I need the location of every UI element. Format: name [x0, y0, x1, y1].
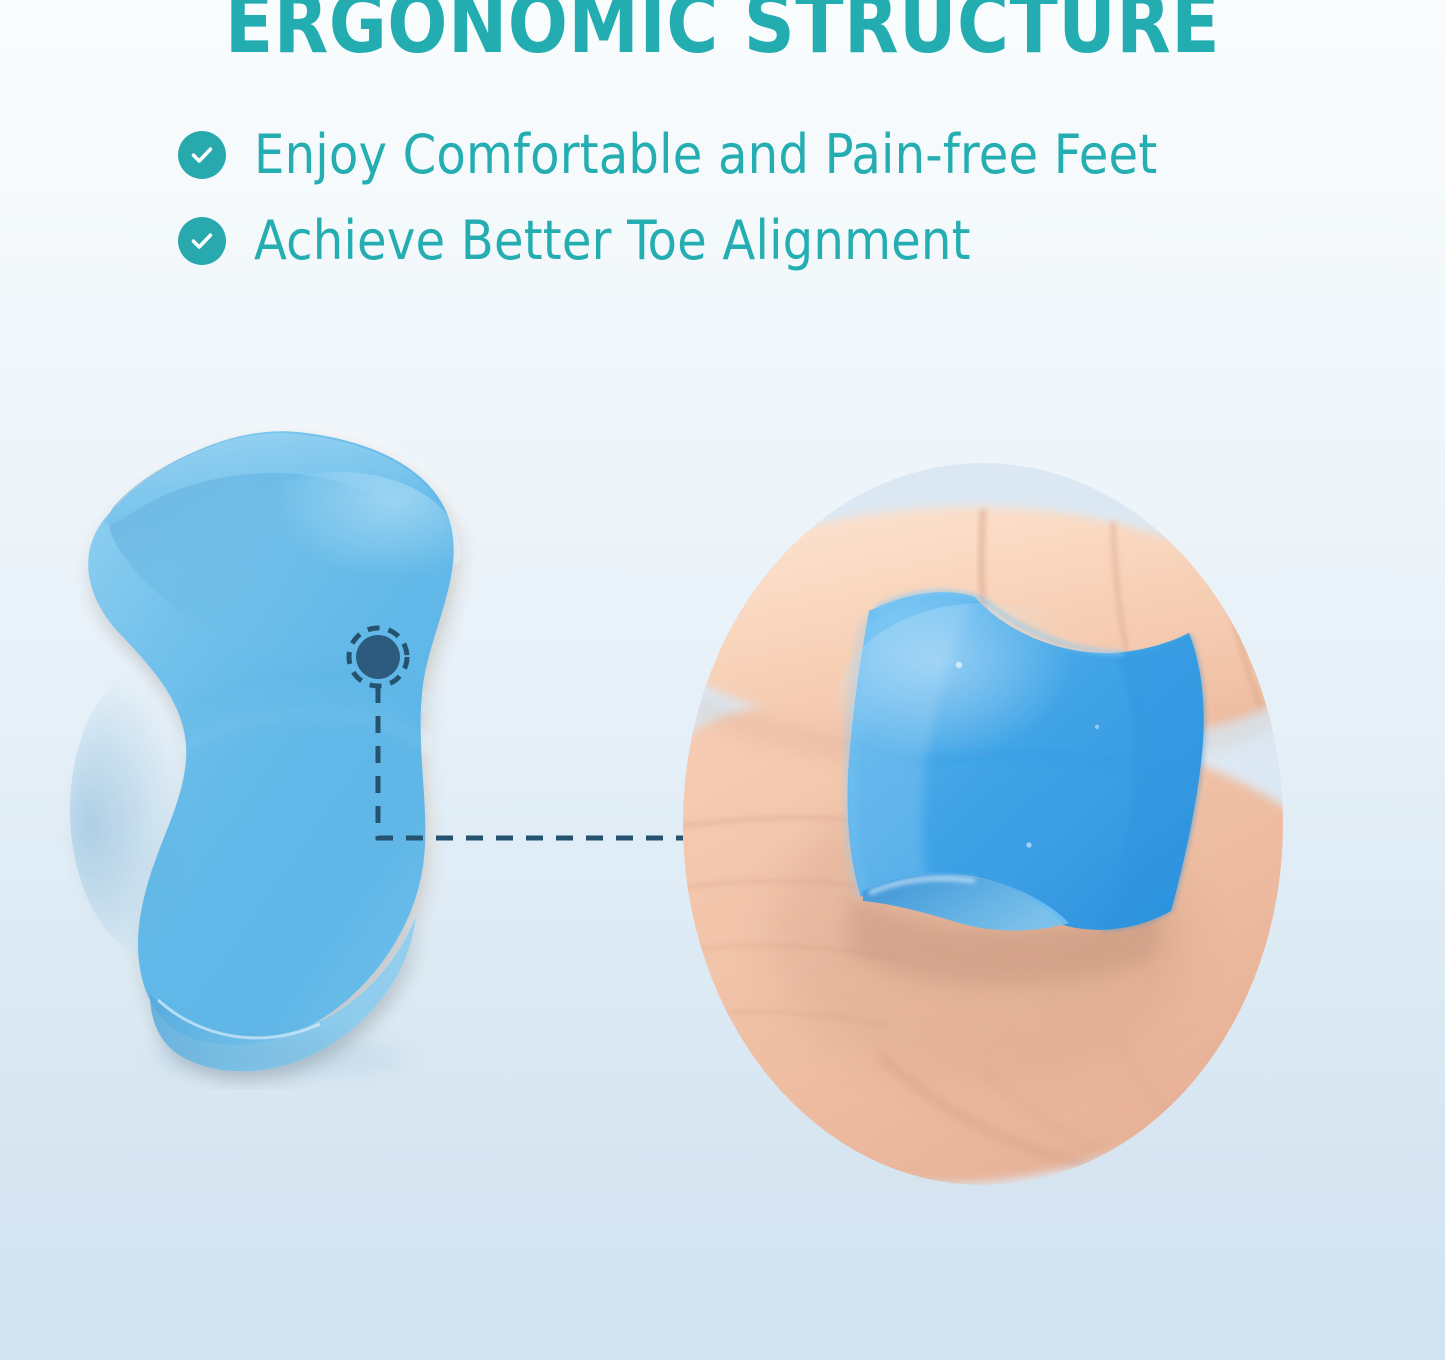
list-item: Enjoy Comfortable and Pain-free Feet — [178, 124, 1298, 186]
check-circle-icon — [178, 217, 226, 265]
feature-bullet-list: Enjoy Comfortable and Pain-free Feet Ach… — [178, 124, 1298, 296]
hand-holding-gel-pad-photo — [683, 463, 1283, 1185]
gel-pad-in-hand — [833, 592, 1206, 985]
page-title: ERGONOMIC STRUCTURE — [29, 0, 1416, 66]
list-item-label: Achieve Better Toe Alignment — [254, 214, 971, 268]
list-item: Achieve Better Toe Alignment — [178, 210, 1298, 272]
check-circle-icon — [178, 131, 226, 179]
list-item-label: Enjoy Comfortable and Pain-free Feet — [254, 128, 1157, 182]
product-infographic-page: ERGONOMIC STRUCTURE Enjoy Comfortable an… — [0, 0, 1445, 1360]
gel-body — [70, 431, 460, 1071]
gel-ground-shadow — [150, 1040, 410, 1076]
gel-toe-separator-3d-render — [40, 410, 500, 1090]
